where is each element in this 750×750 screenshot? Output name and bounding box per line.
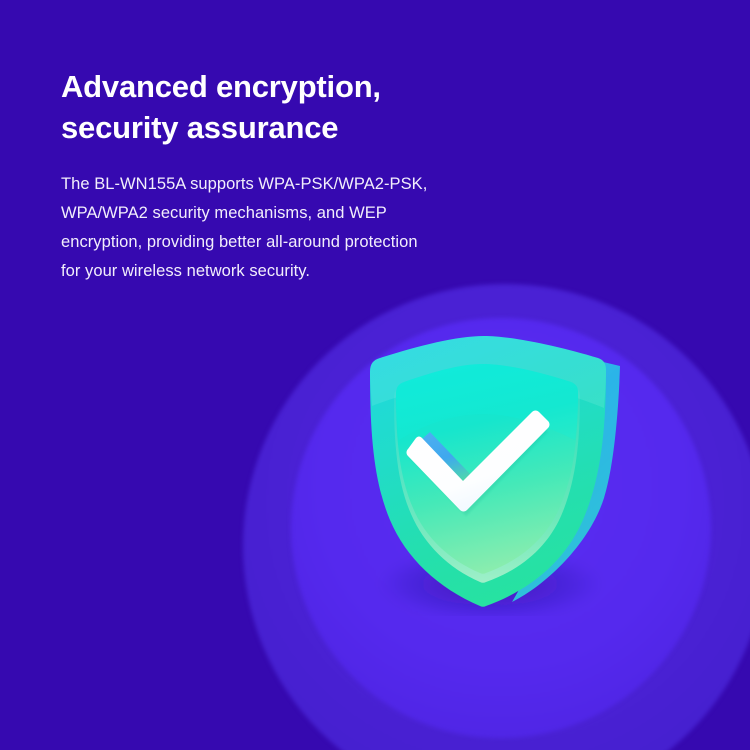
promo-banner: Advanced encryption, security assurance … xyxy=(0,0,750,750)
description-text: The BL-WN155A supports WPA-PSK/WPA2-PSK,… xyxy=(61,170,531,286)
shield-check-icon xyxy=(352,326,632,616)
page-title: Advanced encryption, security assurance xyxy=(61,66,621,148)
